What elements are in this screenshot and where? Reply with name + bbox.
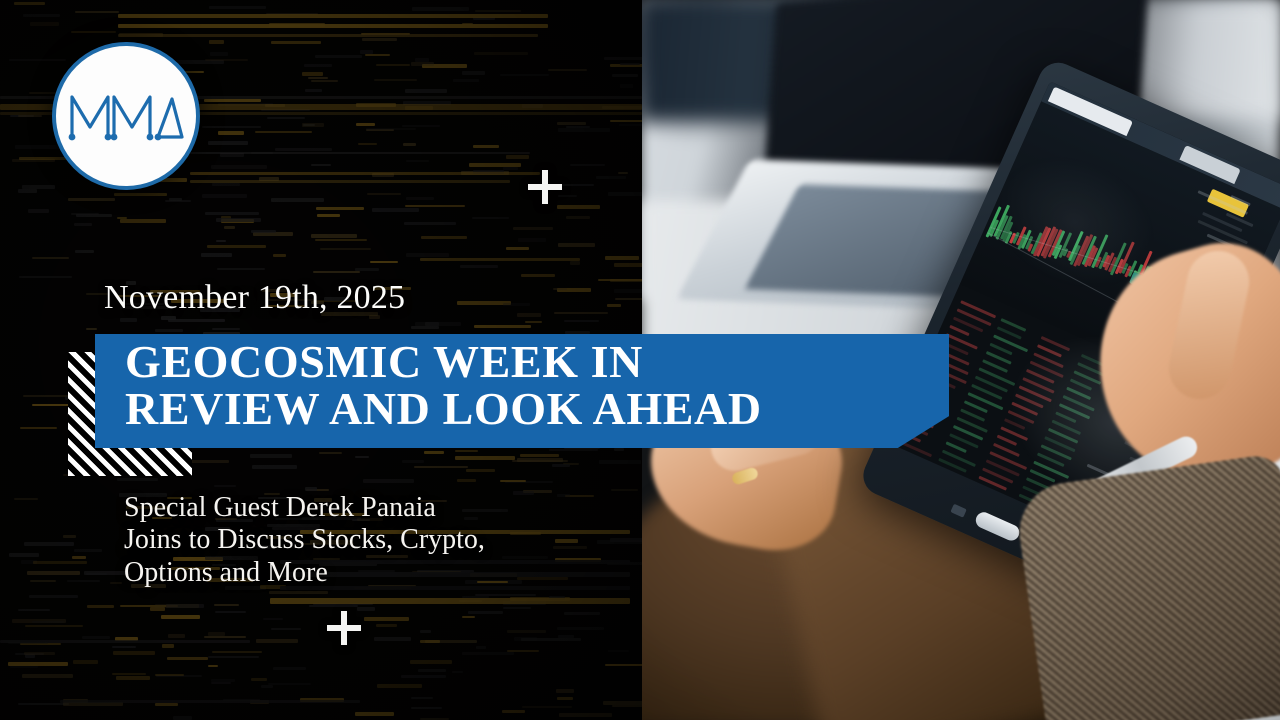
- mma-logo: [52, 42, 200, 190]
- episode-subtitle: Special Guest Derek Panaia Joins to Disc…: [124, 492, 684, 589]
- plus-icon-top: [528, 170, 562, 204]
- episode-date: November 19th, 2025: [104, 281, 405, 315]
- title-line-2: REVIEW AND LOOK AHEAD: [125, 386, 955, 433]
- subtitle-line-2: Joins to Discuss Stocks, Crypto,: [124, 524, 684, 556]
- title-line-1: GEOCOSMIC WEEK IN: [125, 336, 643, 387]
- knit-sleeve: [1013, 452, 1280, 720]
- plus-icon-bottom: [327, 611, 361, 645]
- page-title: GEOCOSMIC WEEK IN REVIEW AND LOOK AHEAD: [125, 339, 955, 433]
- tablet-speaker: [950, 504, 966, 518]
- mma-logo-mark: [66, 87, 186, 145]
- thumbnail-canvas: November 19th, 2025 GEOCOSMIC WEEK IN RE…: [0, 0, 1280, 720]
- subtitle-line-1: Special Guest Derek Panaia: [124, 492, 684, 524]
- subtitle-line-3: Options and More: [124, 557, 684, 589]
- tablet-home-button: [973, 510, 1022, 543]
